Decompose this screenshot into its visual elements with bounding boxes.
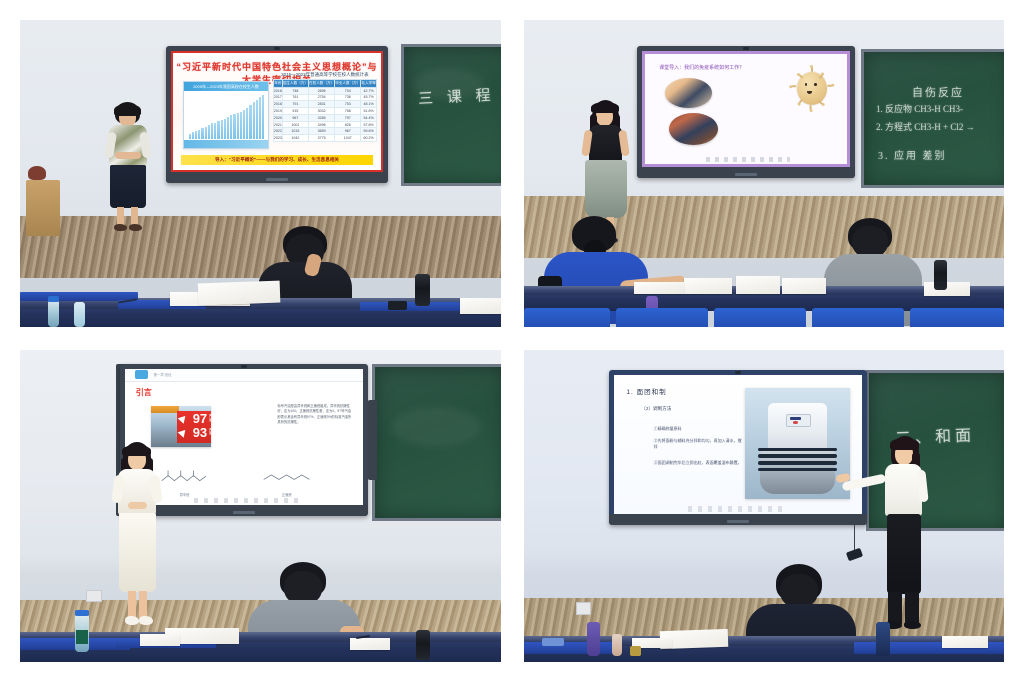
slide-step: ③面团调制完毕后立即出缸，表面覆盖湿布静置。: [654, 460, 743, 466]
water-bottle: [48, 300, 59, 327]
chalkboard: [372, 364, 501, 521]
arrow-icon: [177, 413, 188, 424]
table-cell: 915: [282, 108, 308, 115]
table-cell: 48.1%: [361, 101, 376, 108]
slide-body-text: 标号汽油是由异辛烷和正庚烷组成。异辛烷抗爆性好，定为100；正庚烷抗爆性差，定为…: [277, 404, 353, 424]
table-row: 202310423775104760.2%: [273, 135, 376, 142]
tv-camera-icon: [743, 47, 749, 50]
table-row: 2016748269670442.7%: [273, 87, 376, 94]
teacher-figure: [98, 102, 158, 234]
slide-header-bar: 第一章 烷烃: [125, 369, 363, 382]
collage-panel-top-right: 自伤反应 1. 反应物 CH3-H CH3- 2. 方程式 CH3-H + Cl…: [524, 20, 1004, 327]
slide-photo-oval: [669, 113, 717, 145]
table-cell: 2023: [273, 135, 282, 142]
slide-title: 课堂导入：我们的免疫系统如何工作？: [659, 64, 744, 71]
slide-footer-bar: [194, 498, 299, 503]
collage-panel-top-left: 三 课 程 目 “习近平新时代中国特色社会主义思想概论”与大学生密切相关 200…: [20, 20, 501, 327]
table-row: 20221015365996759.6%: [273, 128, 376, 135]
desk-blue-cloth: [524, 642, 616, 654]
small-jar: [630, 646, 641, 656]
tv-side-panel: [368, 400, 377, 480]
molecule-svg: [258, 468, 315, 487]
fuel-price-sign: 97 汽油 93 汽油: [177, 411, 210, 444]
mixer-body: [768, 403, 826, 452]
table-cell: 2831: [309, 101, 335, 108]
chalkboard: 自伤反应 1. 反应物 CH3-H CH3- 2. 方程式 CH3-H + Cl…: [861, 49, 1004, 188]
teacher-figure: [874, 436, 934, 640]
paper-stack: [924, 282, 970, 296]
table-cell: 51.6%: [361, 108, 376, 115]
molecule-structure: [258, 468, 315, 487]
fuel-grade-value: 97: [193, 412, 207, 425]
desk-front: [20, 309, 501, 327]
paper-stack: [782, 278, 826, 294]
purple-tumbler: [587, 622, 600, 656]
chart-footer-band: [184, 140, 267, 147]
chalkboard-line: 2. 方程式 CH3-H + Cl2 →: [876, 120, 975, 133]
tv-camera-icon: [274, 47, 280, 50]
smart-tv-display[interactable]: “习近平新时代中国特色社会主义思想概论”与大学生密切相关 2005年—2023年…: [166, 46, 388, 183]
paper-stack: [460, 298, 501, 314]
chart-bars: [189, 93, 265, 139]
table-cell: 54.4%: [361, 114, 376, 121]
blue-item: [542, 638, 564, 646]
fuel-grade-unit: 汽油: [209, 415, 211, 423]
smartphone: [388, 301, 407, 310]
fuel-price-row: 93 汽油: [179, 426, 210, 438]
dough-mixer-photo: [745, 388, 849, 499]
chalkboard-line: 自伤反应: [912, 84, 964, 100]
table-cell: 748: [282, 87, 308, 94]
teacher-figure: [108, 442, 166, 632]
table-row: 20211001349682657.8%: [273, 121, 376, 128]
table-cell: 704: [335, 87, 361, 94]
slide-app-icon: [135, 370, 148, 379]
table-cell: 758: [335, 108, 361, 115]
table-cell: 2018: [273, 101, 282, 108]
table-cell: 3285: [309, 114, 335, 121]
slide-footer-bar: [706, 157, 791, 161]
paper-stack: [350, 638, 390, 650]
table-cell: 2022: [273, 128, 282, 135]
table-cell: 797: [335, 114, 361, 121]
water-bottle: [74, 302, 85, 327]
paper-stack: [140, 634, 180, 646]
table-cell: 57.8%: [361, 121, 376, 128]
paper-stack: [634, 282, 684, 294]
table-row: 2018791283175348.1%: [273, 101, 376, 108]
chair: [910, 308, 1004, 327]
open-document: [198, 281, 281, 306]
table-cell: 3775: [309, 135, 335, 142]
tv-brand-logo: [233, 511, 255, 514]
chart-header-label: 2005年—2023年我国高校在校生人数: [184, 82, 267, 91]
table-cell: 2021: [273, 121, 282, 128]
collage-panel-bottom-left: 第一章 烷烃 引言 97 汽油: [20, 350, 501, 662]
table-cell: 2020: [273, 114, 282, 121]
chair: [714, 308, 806, 327]
slide-data-table: 年份 招生人数（万） 在校人数（万） 毕业人数（万） 毛入学率 20167482…: [273, 79, 377, 142]
chair: [524, 308, 610, 327]
wall-socket: [576, 602, 591, 615]
slide-header-note: 第一章 烷烃: [154, 372, 172, 377]
slide-photo-oval: [665, 78, 711, 108]
table-cell: 60.2%: [361, 135, 376, 142]
chair: [616, 308, 708, 327]
paper-stack: [684, 278, 732, 294]
fuel-grade-unit: 汽油: [209, 429, 211, 437]
mixer-control-panel: [786, 414, 811, 427]
table-cell: 2696: [309, 87, 335, 94]
slide-footer-bar: [688, 506, 787, 512]
table-cell: 761: [282, 94, 308, 101]
thermos: [876, 622, 890, 656]
gas-station-photo: 97 汽油 93 汽油: [151, 406, 211, 447]
fuel-grade-value: 93: [193, 426, 207, 439]
table-cell: 826: [335, 121, 361, 128]
table-cell: 1042: [282, 135, 308, 142]
slide-presentation: “习近平新时代中国特色社会主义思想概论”与大学生密切相关 2005年—2023年…: [171, 51, 383, 172]
table-col-header: 毕业人数（万）: [335, 79, 361, 87]
table-row: 2019915303275851.6%: [273, 108, 376, 115]
thermos: [415, 274, 430, 306]
table-cell: 3032: [309, 108, 335, 115]
bottle-label: [76, 630, 88, 644]
tv-brand-logo: [735, 173, 757, 176]
bottle-cap: [48, 296, 59, 302]
table-cell: 59.6%: [361, 128, 376, 135]
paper-stack: [736, 276, 780, 294]
table-header-row: 年份 招生人数（万） 在校人数（万） 毕业人数（万） 毛入学率: [273, 79, 376, 87]
water-bottle: [612, 634, 622, 656]
table-row: 2017761275473645.7%: [273, 94, 376, 101]
tv-camera-icon: [735, 371, 741, 374]
chalkboard-text: 三 课 程 目: [418, 82, 501, 109]
tv-screen-area: 课堂导入：我们的免疫系统如何工作？: [642, 51, 850, 167]
tv-brand-logo: [266, 178, 288, 181]
tv-bezel-bottom: [637, 167, 855, 178]
mixer-display: [790, 417, 801, 420]
table-cell: 3659: [309, 128, 335, 135]
mixer-knob: [793, 421, 797, 424]
chalkboard-line: 3. 应用 差别: [878, 147, 947, 162]
tv-bezel-bottom: [166, 172, 388, 183]
slide-bar-chart: 2005年—2023年我国高校在校生人数: [183, 81, 268, 149]
arrow-icon: [177, 427, 188, 438]
slide-step: ②先将面粉与辅料充分拌和均匀，再加入清水，搅拌: [654, 438, 743, 450]
table-cell: 967: [282, 114, 308, 121]
collage-panel-bottom-right: 二、和面 1. 面团和制 （2）调制方法 ①精确称量原料 ②先将面粉与辅料充分拌…: [524, 350, 1004, 662]
table-cell: 1015: [282, 128, 308, 135]
table-cell: 967: [335, 128, 361, 135]
table-col-header: 招生人数（万）: [282, 79, 308, 87]
molecule-label: 正庚烷: [258, 492, 315, 497]
table-cell: 736: [335, 94, 361, 101]
thermos: [416, 630, 430, 660]
slide-presentation: 课堂导入：我们的免疫系统如何工作？: [642, 51, 850, 167]
table-col-header: 在校人数（万）: [309, 79, 335, 87]
photo-collage: 三 课 程 目 “习近平新时代中国特色社会主义思想概论”与大学生密切相关 200…: [0, 0, 1024, 682]
bottle-cap: [75, 610, 89, 616]
chalkboard-line: 1. 反应物 CH3-H CH3-: [876, 102, 963, 115]
slide-subtitle: （2）调制方法: [641, 406, 671, 412]
table-cell: 2017: [273, 94, 282, 101]
tv-camera-icon: [241, 365, 247, 368]
table-col-header: 毛入学率: [361, 79, 376, 87]
station-canopy: [151, 406, 178, 413]
wall-socket: [86, 590, 102, 602]
tv-brand-logo: [727, 520, 749, 523]
chair: [812, 308, 904, 327]
table-cell: 45.7%: [361, 94, 376, 101]
fuel-price-row: 97 汽油: [179, 413, 210, 425]
table-caption: 2016—2023年普通高等学校在校人数统计表: [273, 72, 377, 78]
table-row: 2020967328579754.4%: [273, 114, 376, 121]
table-cell: 791: [282, 101, 308, 108]
paper-stack: [942, 636, 988, 648]
slide-title: 引言: [136, 387, 152, 398]
table-cell: 2754: [309, 94, 335, 101]
wooden-stool: [26, 180, 60, 236]
table-cell: 2016: [273, 87, 282, 94]
slide-step: ①精确称量原料: [654, 426, 738, 432]
smart-tv-display[interactable]: 1. 面团和制 （2）调制方法 ①精确称量原料 ②先将面粉与辅料充分拌和均匀，再…: [609, 370, 867, 525]
slide-banner: 导入：“习近平概论”——与我们的学习、成长、生活息息相关: [181, 155, 372, 166]
table-col-header: 年份: [273, 79, 282, 87]
tv-screen-area: 1. 面团和制 （2）调制方法 ①精确称量原料 ②先将面粉与辅料充分拌和均匀，再…: [614, 375, 862, 514]
smart-tv-display[interactable]: 课堂导入：我们的免疫系统如何工作？: [637, 46, 855, 178]
table-cell: 3496: [309, 121, 335, 128]
slide-title: 1. 面团和制: [626, 386, 666, 396]
table-cell: 753: [335, 101, 361, 108]
chalkboard: 三 课 程 目: [401, 44, 501, 186]
table-cell: 42.7%: [361, 87, 376, 94]
mic-cable: [854, 516, 855, 552]
tv-bezel-bottom: [609, 514, 867, 525]
table-cell: 1001: [282, 121, 308, 128]
table-cell: 1047: [335, 135, 361, 142]
tv-screen-area: “习近平新时代中国特色社会主义思想概论”与大学生密切相关 2005年—2023年…: [171, 51, 383, 172]
virus-illustration: [797, 72, 827, 105]
thermos: [934, 260, 947, 290]
plant-decor: [28, 166, 46, 180]
table-cell: 2019: [273, 108, 282, 115]
slide-presentation: 1. 面团和制 （2）调制方法 ①精确称量原料 ②先将面粉与辅料充分拌和均匀，再…: [614, 375, 862, 514]
